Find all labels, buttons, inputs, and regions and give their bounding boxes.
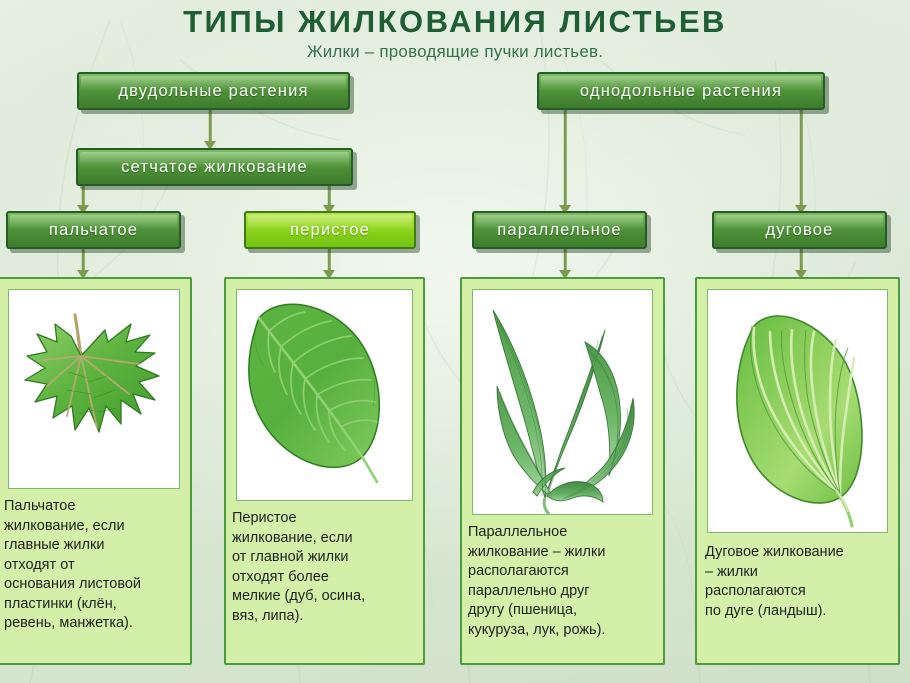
- box-palmate-label: пальчатое: [49, 221, 138, 240]
- box-dicots[interactable]: двудольные растения: [77, 72, 350, 110]
- box-parallel[interactable]: параллельное: [472, 211, 647, 249]
- arrow-monocots-to-arcuate: [794, 110, 808, 214]
- image-frame-pinnate: [236, 289, 413, 501]
- box-monocots-label: однодольные растения: [580, 82, 782, 101]
- maple-leaf-palmate-venation-icon: [9, 290, 181, 490]
- image-frame-arcuate: [707, 289, 888, 533]
- arrow-dicots-to-reticulate: [203, 110, 217, 150]
- box-arcuate[interactable]: дуговое: [712, 211, 887, 249]
- arrow-pinnate-to-panel: [322, 249, 336, 279]
- ovate-leaf-pinnate-venation-icon: [237, 290, 414, 502]
- arrow-parallel-to-panel: [558, 249, 572, 279]
- arrow-palmate-to-panel: [76, 249, 90, 279]
- box-arcuate-label: дуговое: [765, 221, 833, 240]
- box-reticulate-label: сетчатое жилкование: [121, 158, 308, 177]
- page-title: ТИПЫ ЖИЛКОВАНИЯ ЛИСТЬЕВ: [0, 4, 910, 40]
- caption-pinnate: Перистое жилкование, если от главной жил…: [232, 509, 422, 626]
- infographic-leaf-venation: ТИПЫ ЖИЛКОВАНИЯ ЛИСТЬЕВ Жилки – проводящ…: [0, 0, 910, 683]
- box-palmate[interactable]: пальчатое: [6, 211, 181, 249]
- caption-palmate: Пальчатое жилкование, если главные жилки…: [4, 497, 190, 634]
- arrow-monocots-to-parallel: [558, 110, 572, 214]
- box-pinnate-label: перистое: [290, 221, 370, 240]
- image-frame-parallel: [472, 289, 653, 515]
- caption-arcuate: Дуговое жилкование – жилки располагаются…: [705, 543, 895, 621]
- caption-parallel: Параллельное жилкование – жилки располаг…: [468, 523, 662, 640]
- grass-blades-parallel-venation-icon: [473, 290, 654, 516]
- box-monocots[interactable]: однодольные растения: [537, 72, 825, 110]
- lily-of-the-valley-leaf-arcuate-venation-icon: [708, 290, 889, 534]
- arrow-reticulate-to-pinnate: [322, 186, 336, 214]
- box-parallel-label: параллельное: [497, 221, 621, 240]
- arrow-arcuate-to-panel: [794, 249, 808, 279]
- image-frame-palmate: [8, 289, 180, 489]
- box-pinnate[interactable]: перистое: [244, 211, 416, 249]
- box-dicots-label: двудольные растения: [118, 82, 308, 101]
- box-reticulate-venation[interactable]: сетчатое жилкование: [76, 148, 353, 186]
- arrow-reticulate-to-palmate: [76, 186, 90, 214]
- page-subtitle: Жилки – проводящие пучки листьев.: [0, 42, 910, 62]
